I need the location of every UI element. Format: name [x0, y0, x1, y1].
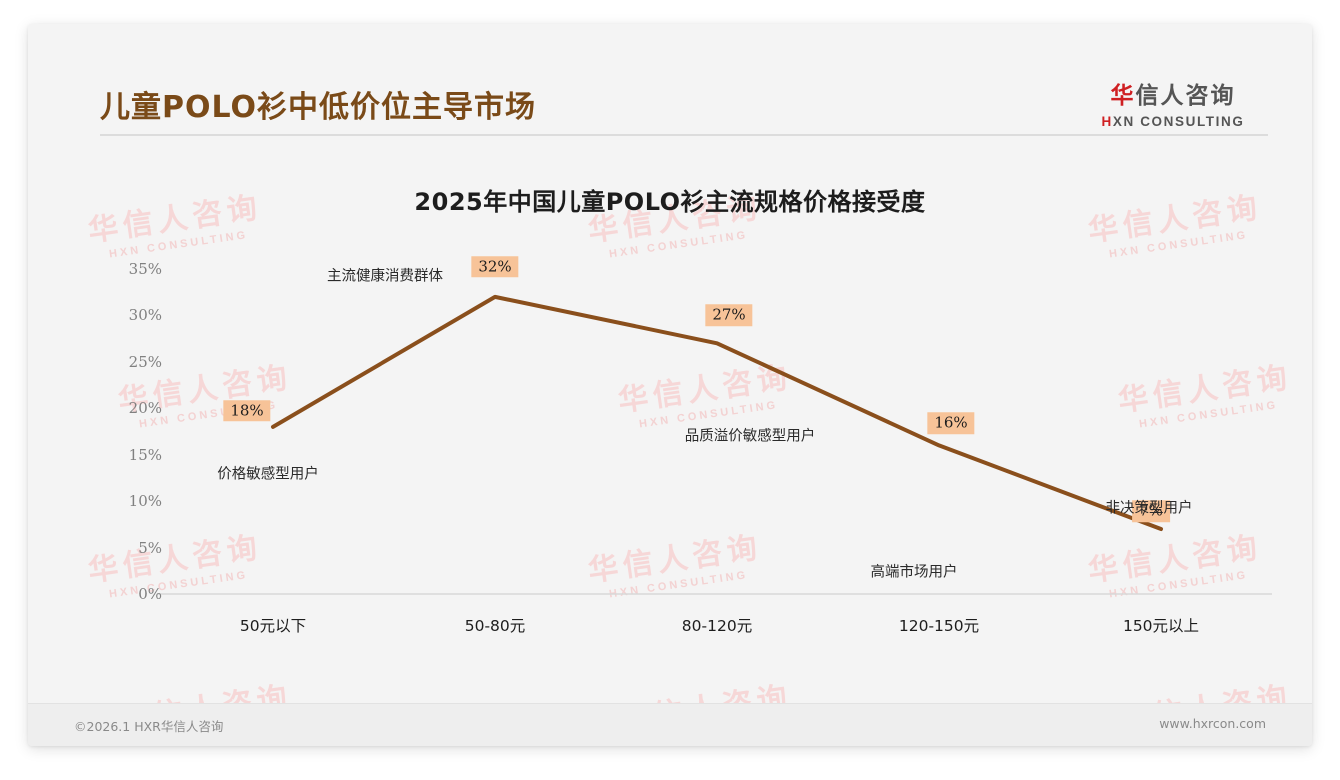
slide-header: 儿童POLO衫中低价位主导市场 华信人咨询 HXN CONSULTING: [28, 24, 1312, 136]
y-axis-tick-label: 15%: [110, 446, 162, 464]
data-point-label: 16%: [927, 413, 974, 435]
data-point-label: 18%: [223, 400, 270, 422]
header-divider: [100, 134, 1268, 136]
logo-chinese-first: 华: [1111, 83, 1136, 109]
y-axis-tick-label: 35%: [110, 260, 162, 278]
data-point-label: 27%: [705, 305, 752, 327]
x-axis-tick-label: 80-120元: [682, 614, 752, 636]
x-axis-tick-label: 50元以下: [240, 614, 306, 636]
chart-svg: [100, 249, 1280, 649]
x-axis-tick-label: 150元以上: [1123, 614, 1199, 636]
brand-logo: 华信人咨询 HXN CONSULTING: [1078, 76, 1268, 129]
y-axis-tick-label: 10%: [110, 492, 162, 510]
chart-annotation: 高端市场用户: [871, 561, 958, 582]
x-axis-tick-label: 120-150元: [899, 614, 979, 636]
logo-english-rest: XN CONSULTING: [1113, 114, 1245, 129]
logo-english-first: H: [1102, 114, 1113, 129]
chart-annotation: 非决策型用户: [1106, 497, 1193, 518]
chart-annotation: 价格敏感型用户: [217, 462, 319, 483]
y-axis-tick-label: 5%: [110, 539, 162, 557]
website-link[interactable]: www.hxrcon.com: [1159, 716, 1266, 731]
logo-chinese: 华信人咨询: [1078, 76, 1268, 110]
bottom-bar: ©2026.1 HXR华信人咨询 www.hxrcon.com: [28, 703, 1312, 746]
y-axis-tick-label: 30%: [110, 306, 162, 324]
chart-annotation: 主流健康消费群体: [327, 264, 443, 285]
y-axis-tick-label: 0%: [110, 585, 162, 603]
data-point-label: 32%: [471, 256, 518, 278]
copyright-text: ©2026.1 HXR华信人咨询: [74, 716, 223, 735]
y-axis-tick-label: 20%: [110, 399, 162, 417]
y-axis-tick-label: 25%: [110, 353, 162, 371]
logo-english: HXN CONSULTING: [1078, 114, 1268, 129]
line-chart: 0%5%10%15%20%25%30%35% 50元以下50-80元80-120…: [100, 249, 1280, 649]
page-title: 儿童POLO衫中低价位主导市场: [100, 82, 536, 126]
chart-annotation: 品质溢价敏感型用户: [685, 425, 816, 446]
data-line: [273, 297, 1161, 529]
logo-chinese-rest: 信人咨询: [1136, 83, 1236, 109]
chart-title: 2025年中国儿童POLO衫主流规格价格接受度: [28, 182, 1312, 217]
slide-canvas: 华信人咨询HXN CONSULTING华信人咨询HXN CONSULTING华信…: [28, 24, 1312, 746]
x-axis-tick-label: 50-80元: [465, 614, 526, 636]
y-axis: 0%5%10%15%20%25%30%35%: [100, 249, 162, 649]
